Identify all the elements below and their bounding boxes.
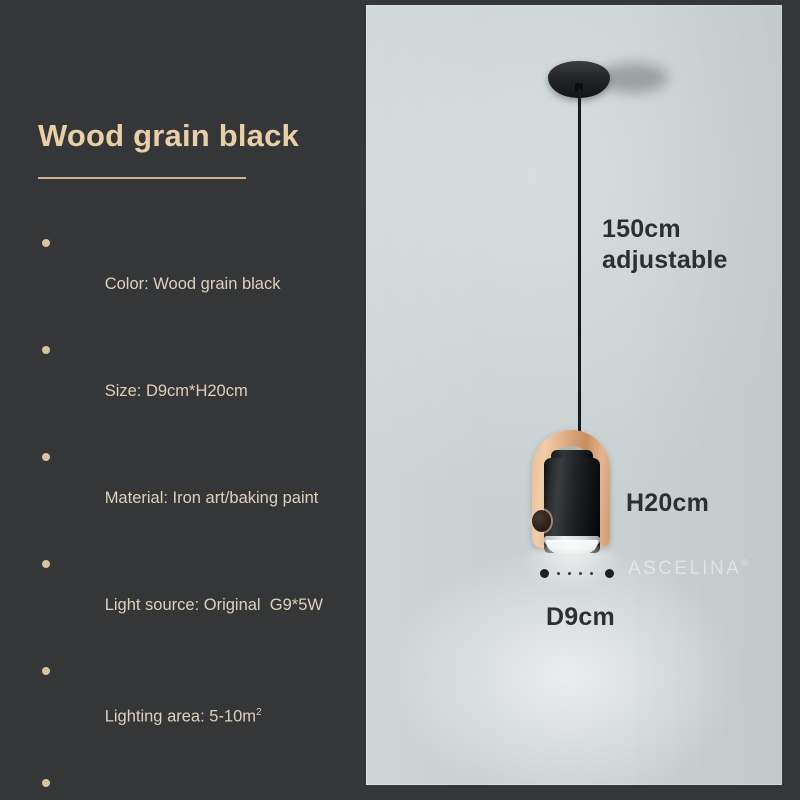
diameter-measure-line bbox=[540, 569, 614, 579]
lamp-glow bbox=[522, 542, 622, 590]
measure-endpoint-right bbox=[605, 569, 614, 578]
list-item: Lighting area: 5-10m2 bbox=[38, 660, 368, 749]
lamp-head bbox=[518, 430, 638, 570]
bullet-icon bbox=[42, 667, 50, 675]
drop-length-value: 150cm bbox=[602, 214, 728, 245]
adjustment-knob bbox=[532, 510, 551, 532]
bullet-icon bbox=[42, 779, 50, 787]
measure-endpoint-left bbox=[540, 569, 549, 578]
height-label: H20cm bbox=[626, 489, 709, 518]
list-item: Color: Wood grain black bbox=[38, 232, 368, 316]
bullet-icon bbox=[42, 239, 50, 247]
measure-dotted-line bbox=[553, 572, 601, 575]
list-item: Light source: Original G9*5W bbox=[38, 553, 368, 637]
bullet-icon bbox=[42, 346, 50, 354]
title-divider bbox=[38, 177, 246, 179]
spec-color-text: Color: Wood grain black bbox=[105, 275, 281, 293]
specification-list: Color: Wood grain black Size: D9cm*H20cm… bbox=[38, 232, 368, 800]
square-meter-superscript: 2 bbox=[256, 707, 262, 718]
specification-panel: Wood grain black Color: Wood grain black… bbox=[0, 0, 365, 800]
drop-length-label: 150cm adjustable bbox=[602, 214, 728, 276]
bullet-icon bbox=[42, 453, 50, 461]
product-photo bbox=[366, 5, 782, 785]
bullet-icon bbox=[42, 560, 50, 568]
spec-light-source-text: Light source: Original G9*5W bbox=[105, 596, 323, 614]
page-title: Wood grain black bbox=[38, 118, 299, 154]
suspension-cord bbox=[578, 89, 581, 455]
list-item: Size: D9cm*H20cm bbox=[38, 339, 368, 423]
spec-lighting-area-text: Lighting area: 5-10m bbox=[105, 708, 256, 726]
list-item: Material: Iron art/baking paint bbox=[38, 446, 368, 530]
list-item: Voltage: 90-260V bbox=[38, 772, 368, 800]
diameter-label: D9cm bbox=[546, 603, 615, 632]
wall-shading bbox=[366, 5, 782, 785]
spec-material-text: Material: Iron art/baking paint bbox=[105, 489, 319, 507]
spec-size-text: Size: D9cm*H20cm bbox=[105, 382, 248, 400]
drop-length-note: adjustable bbox=[602, 245, 728, 276]
product-spec-image: Wood grain black Color: Wood grain black… bbox=[0, 0, 800, 800]
